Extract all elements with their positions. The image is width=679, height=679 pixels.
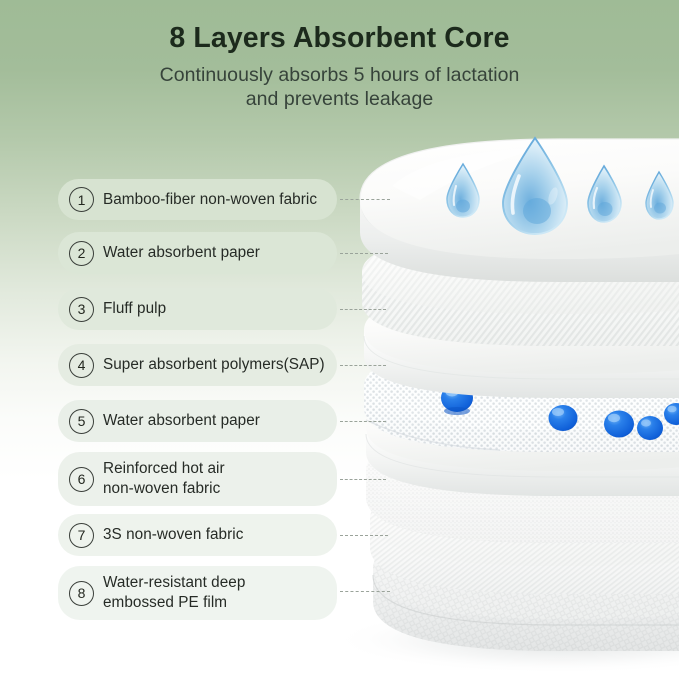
layer-label: Water absorbent paper: [103, 411, 260, 431]
layer-number-badge: 6: [69, 467, 94, 492]
layer-chip-6[interactable]: 6 Reinforced hot air non-woven fabric: [58, 452, 337, 506]
layer-number-badge: 3: [69, 297, 94, 322]
layer-number-badge: 2: [69, 241, 94, 266]
layer-number-badge: 1: [69, 187, 94, 212]
header: 8 Layers Absorbent Core Continuously abs…: [0, 22, 679, 112]
layer-chip-7[interactable]: 7 3S non-woven fabric: [58, 514, 337, 556]
layer-chip-2[interactable]: 2 Water absorbent paper: [58, 232, 337, 274]
layer-chip-3[interactable]: 3 Fluff pulp: [58, 288, 337, 330]
layer-label: Reinforced hot air non-woven fabric: [103, 459, 225, 498]
layer-chip-4[interactable]: 4 Super absorbent polymers(SAP): [58, 344, 337, 386]
layer-label: Super absorbent polymers(SAP): [103, 355, 325, 375]
layer-number-badge: 4: [69, 353, 94, 378]
page-subtitle: Continuously absorbs 5 hours of lactatio…: [0, 63, 679, 112]
layer-chip-5[interactable]: 5 Water absorbent paper: [58, 400, 337, 442]
layer-number-badge: 5: [69, 409, 94, 434]
layer-label: Water absorbent paper: [103, 243, 260, 263]
layer-chip-1[interactable]: 1 Bamboo-fiber non-woven fabric: [58, 179, 337, 220]
layer-number-badge: 7: [69, 523, 94, 548]
layer-label: Bamboo-fiber non-woven fabric: [103, 190, 317, 210]
layer-label: Water-resistant deep embossed PE film: [103, 573, 245, 612]
layer-label: 3S non-woven fabric: [103, 525, 243, 545]
layer-number-badge: 8: [69, 581, 94, 606]
layer-chip-8[interactable]: 8 Water-resistant deep embossed PE film: [58, 566, 337, 620]
page-title: 8 Layers Absorbent Core: [0, 22, 679, 56]
layer-label: Fluff pulp: [103, 299, 166, 319]
infographic-canvas: 8 Layers Absorbent Core Continuously abs…: [0, 0, 679, 679]
